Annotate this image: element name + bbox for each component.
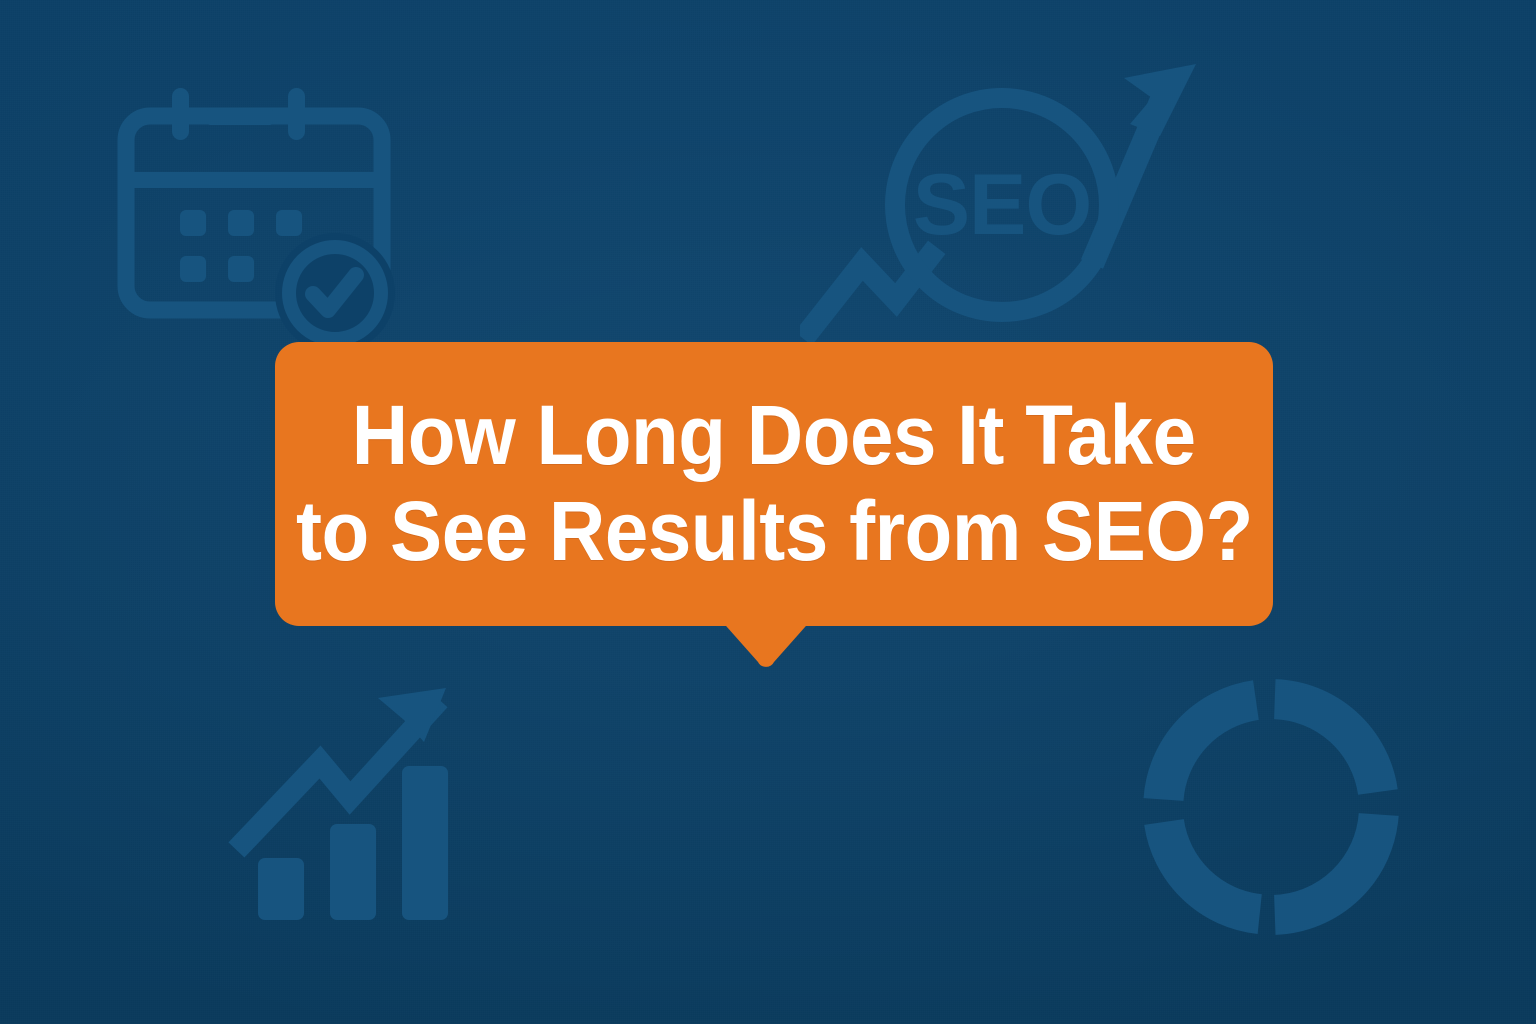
headline-line-2: to See Results from SEO? (296, 489, 1253, 575)
headline-block: How Long Does It Take to See Results fro… (275, 342, 1273, 626)
donut-chart-icon (1126, 662, 1416, 952)
growth-bar-chart-icon (228, 676, 473, 936)
speech-bubble: How Long Does It Take to See Results fro… (275, 342, 1273, 668)
svg-text:SEO: SEO (913, 157, 1092, 253)
calendar-check-icon (104, 80, 404, 350)
seo-banner: SEO (0, 0, 1536, 1024)
headline-line-1: How Long Does It Take (352, 393, 1196, 479)
seo-magnifier-icon: SEO (800, 50, 1220, 370)
